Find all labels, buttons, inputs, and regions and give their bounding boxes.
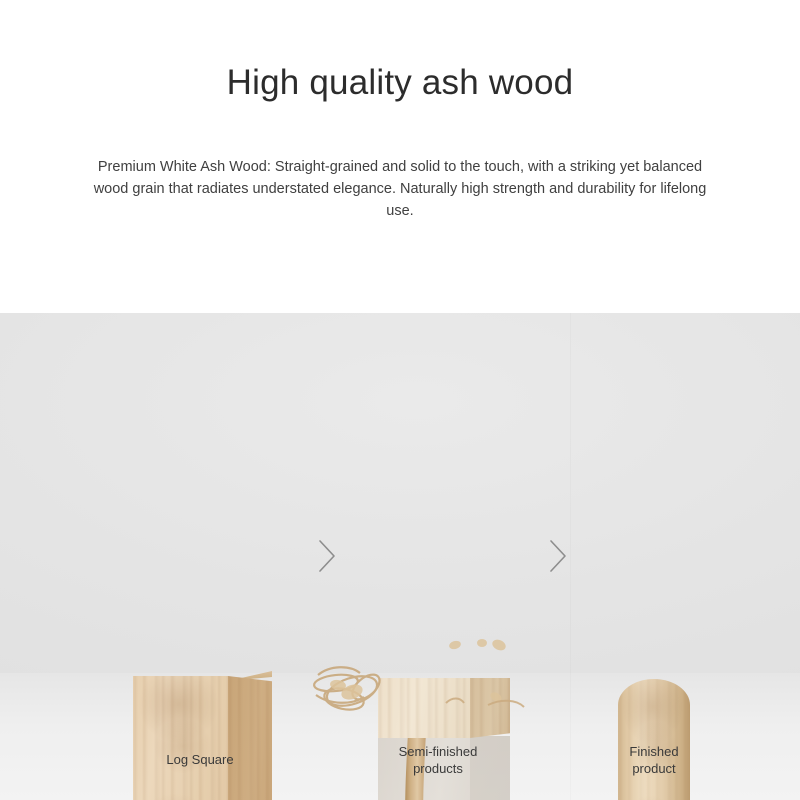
- semi-finished-top-front: [378, 678, 470, 738]
- wood-grain-texture: [228, 676, 272, 800]
- log-square-front-face: [133, 676, 228, 800]
- finished-leg-highlight: [618, 679, 690, 800]
- header-section: High quality ash wood Premium White Ash …: [0, 0, 800, 313]
- wood-grain-texture: [378, 678, 470, 738]
- chevron-right-icon: [314, 536, 340, 576]
- caption-finished-product: Finished product: [590, 743, 718, 777]
- caption-semi-finished-products: Semi-finished products: [362, 743, 514, 777]
- process-photo-panel: Log Square Semi-finished products Finish…: [0, 313, 800, 800]
- description-paragraph: Premium White Ash Wood: Straight-grained…: [84, 156, 716, 222]
- page-title: High quality ash wood: [0, 62, 800, 104]
- log-square-side-face: [228, 676, 272, 800]
- wood-figure-texture: [133, 676, 228, 800]
- wood-grain-texture: [470, 678, 510, 738]
- caption-log-square: Log Square: [120, 751, 280, 768]
- chevron-right-icon: [545, 536, 571, 576]
- product-feature-page: High quality ash wood Premium White Ash …: [0, 0, 800, 800]
- semi-finished-top-side: [470, 678, 510, 738]
